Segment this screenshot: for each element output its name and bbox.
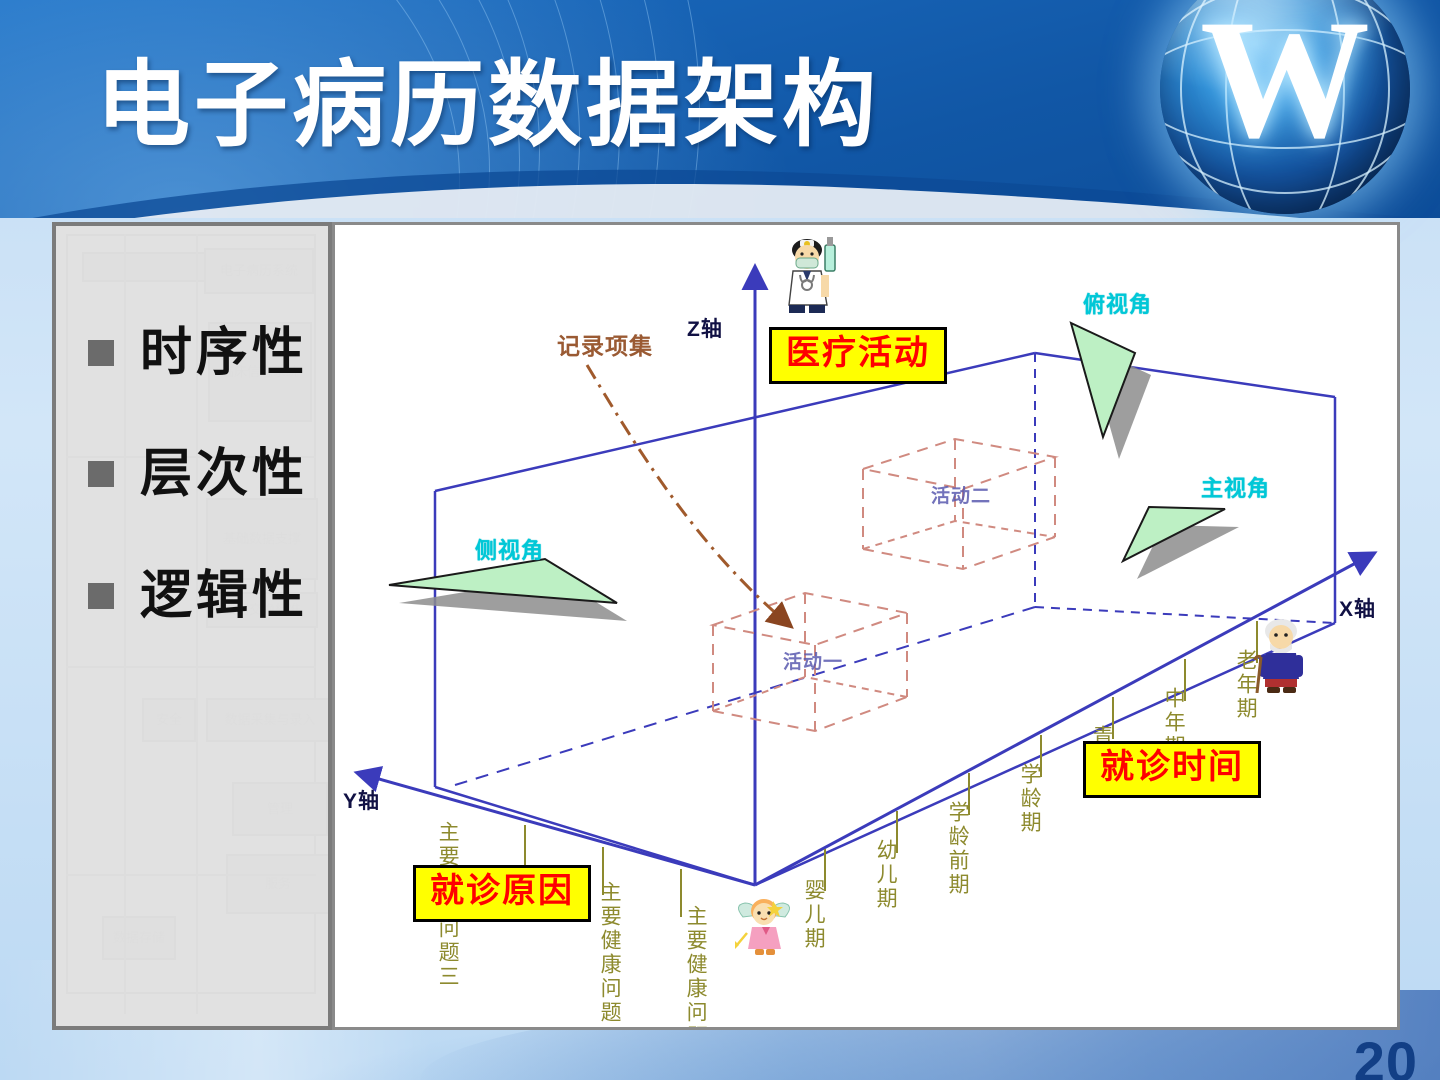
record-set-label: 记录项集	[557, 327, 653, 361]
sidebar-item-label: 时序性	[140, 322, 320, 385]
x-tick-label: 学龄前期	[945, 801, 969, 897]
sidebar-item-shixuxing[interactable]: 时序性	[56, 322, 328, 385]
y-tick-label: 主要健康问题二	[597, 881, 621, 1030]
logo-wordmark: W	[1160, 0, 1410, 164]
watermark-box: 服务	[226, 854, 330, 914]
sidebar-item-label: 逻辑性	[140, 565, 320, 628]
watermark-box: 管理	[232, 782, 328, 836]
page-title: 电子病历数据架构	[96, 56, 880, 155]
callout-medical-activity[interactable]: 医疗活动	[769, 327, 947, 384]
sidebar-item-cengcixing[interactable]: 层次性	[56, 443, 328, 506]
x-tick-label: 学龄期	[1017, 763, 1041, 835]
axis-label-y: Y轴	[343, 785, 380, 815]
activity-label-two: 活动二	[931, 481, 991, 508]
axis-label-z: Z轴	[687, 313, 723, 343]
sidebar-item-label: 层次性	[140, 443, 320, 506]
x-tick-label: 幼儿期	[873, 839, 897, 911]
figure-panel: Z轴 X轴 Y轴 记录项集 俯视角 主视角 侧视角 活动二 活动一 医疗活动 就…	[332, 222, 1400, 1030]
callout-visit-time[interactable]: 就诊时间	[1083, 741, 1261, 798]
bullet-square-icon	[88, 583, 114, 609]
callout-visit-reason[interactable]: 就诊原因	[413, 865, 591, 922]
watermark-box: 数据存储	[102, 916, 176, 960]
view-label-main: 主视角	[1201, 471, 1270, 503]
sidebar-panel: 电子病历系统 临床信息系统 基础数据支撑 数据交换标准 数据采集与录入 安全 管…	[52, 222, 332, 1030]
view-label-side: 侧视角	[475, 533, 544, 565]
bullet-square-icon	[88, 461, 114, 487]
page-number: 20	[1354, 1029, 1418, 1080]
axis-label-x: X轴	[1339, 593, 1376, 623]
view-label-top: 俯视角	[1083, 287, 1152, 319]
bullet-square-icon	[88, 340, 114, 366]
watermark-box: 数据采集与录入	[206, 698, 332, 742]
sidebar-bullet-list: 时序性 层次性 逻辑性	[56, 226, 328, 628]
x-tick-label: 婴儿期	[801, 879, 825, 951]
slide-canvas: W 电子病历数据架构 电子病历系统 临床信息系统 基础数据支撑 数据交换标准 数…	[0, 0, 1440, 1080]
three-axis-diagram: Z轴 X轴 Y轴 记录项集 俯视角 主视角 侧视角 活动二 活动一 医疗活动 就…	[335, 225, 1397, 1027]
sidebar-item-luojixing[interactable]: 逻辑性	[56, 565, 328, 628]
watermark-box: 安全	[142, 698, 196, 742]
activity-label-one: 活动一	[783, 647, 843, 674]
y-tick-label: 主要健康问题一	[683, 905, 707, 1030]
